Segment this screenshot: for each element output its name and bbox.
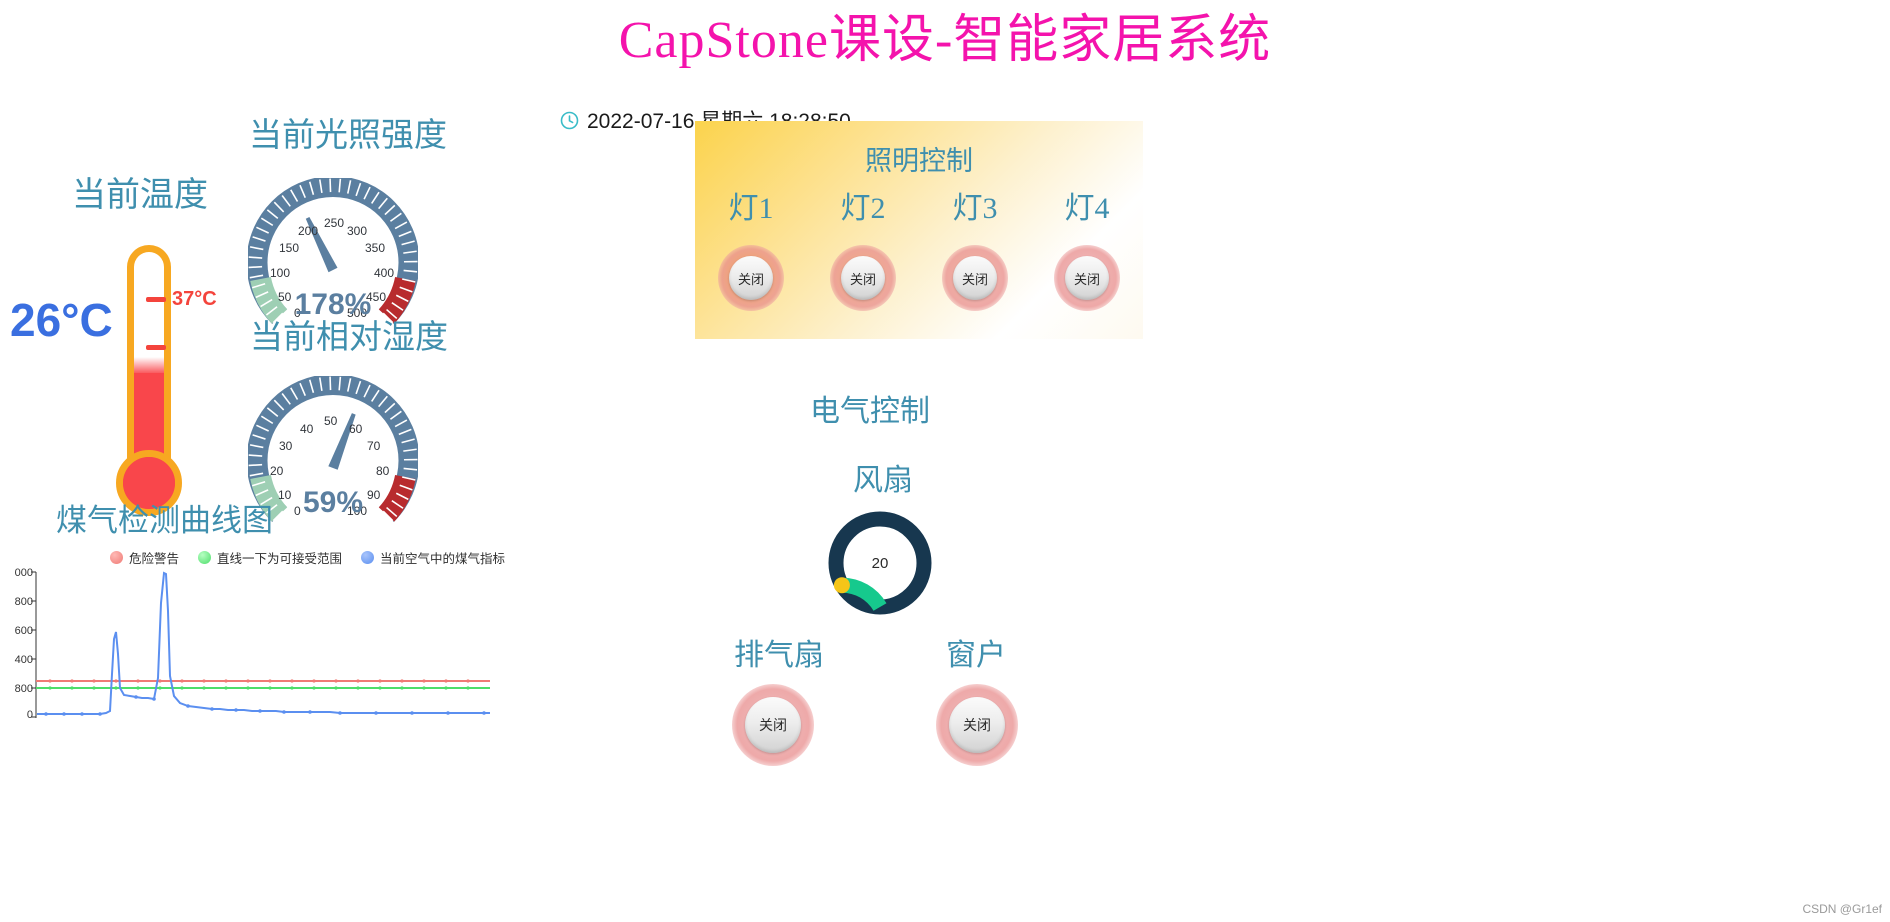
light-tick-150: 150 <box>279 241 299 255</box>
fan-title: 风扇 <box>853 455 913 499</box>
light-tick-250: 250 <box>324 216 344 230</box>
svg-text:800: 800 <box>15 683 33 695</box>
light-tick-300: 300 <box>347 224 367 238</box>
thermometer-tick-lower <box>146 345 166 350</box>
legend-item-danger[interactable]: 危险警告 <box>110 548 179 567</box>
temperature-max-label: 37°C <box>172 288 217 311</box>
exhaust-fan-state: 关闭 <box>745 697 801 753</box>
light-1-state: 关闭 <box>729 256 773 300</box>
light-title: 当前光照强度 <box>249 108 447 156</box>
light-4-toggle-button[interactable]: 关闭 <box>1054 245 1120 311</box>
svg-text:400: 400 <box>15 654 33 666</box>
humidity-tick-70: 70 <box>367 439 380 453</box>
humidity-tick-50: 50 <box>324 414 337 428</box>
light-4-label: 灯4 <box>1065 183 1110 227</box>
window-state: 关闭 <box>949 697 1005 753</box>
light-cell-4: 灯4 关闭 <box>1031 183 1143 311</box>
watermark: CSDN @Gr1ef <box>1802 902 1882 916</box>
light-1-toggle-button[interactable]: 关闭 <box>718 245 784 311</box>
electric-control-title: 电气控制 <box>810 386 930 430</box>
light-tick-350: 350 <box>365 241 385 255</box>
light-tick-200: 200 <box>298 224 318 238</box>
svg-text:800: 800 <box>15 596 33 608</box>
legend-label-danger: 危险警告 <box>129 548 179 567</box>
light-cell-1: 灯1 关闭 <box>695 183 807 311</box>
light-3-toggle-button[interactable]: 关闭 <box>942 245 1008 311</box>
humidity-gauge: 10 20 30 40 50 60 70 80 90 100 0 59% <box>248 376 418 546</box>
legend-label-acceptable: 直线一下为可接受范围 <box>217 548 342 567</box>
lighting-panel-title: 照明控制 <box>695 139 1143 178</box>
light-3-label: 灯3 <box>953 183 998 227</box>
gas-chart-svg: 000 800 600 400 800 0 <box>0 566 495 726</box>
window-title: 窗户 <box>946 630 1006 674</box>
legend-item-current[interactable]: 当前空气中的煤气指标 <box>361 548 505 567</box>
lighting-buttons-grid: 灯1 关闭 灯2 关闭 灯3 关闭 灯4 关闭 <box>695 183 1143 311</box>
page-title: CapStone课设-智能家居系统 <box>0 12 1890 69</box>
legend-label-current: 当前空气中的煤气指标 <box>380 548 505 567</box>
legend-item-acceptable[interactable]: 直线一下为可接受范围 <box>198 548 342 567</box>
thermometer-tick-upper <box>146 297 166 302</box>
light-3-state: 关闭 <box>953 256 997 300</box>
light-tick-400: 400 <box>374 266 394 280</box>
legend-dot-danger <box>110 551 123 564</box>
exhaust-fan-title: 排气扇 <box>734 630 824 674</box>
temperature-title: 当前温度 <box>72 167 208 216</box>
humidity-tick-20: 20 <box>270 464 283 478</box>
light-2-state: 关闭 <box>841 256 885 300</box>
temperature-value: 26°C <box>10 293 113 347</box>
svg-text:0: 0 <box>27 709 33 721</box>
lighting-control-panel: 照明控制 灯1 关闭 灯2 关闭 灯3 关闭 灯4 <box>695 121 1143 339</box>
fan-speed-knob[interactable]: 20 <box>822 505 938 621</box>
humidity-title: 当前相对湿度 <box>250 310 448 358</box>
window-toggle-button[interactable]: 关闭 <box>936 684 1018 766</box>
svg-text:600: 600 <box>15 625 33 637</box>
legend-dot-acceptable <box>198 551 211 564</box>
humidity-value: 59% <box>248 486 418 520</box>
gas-chart[interactable]: 000 800 600 400 800 0 <box>0 566 495 726</box>
dashboard-root: CapStone课设-智能家居系统 2022-07-16 星期六 18:28:5… <box>0 0 1890 922</box>
humidity-tick-80: 80 <box>376 464 389 478</box>
legend-dot-current <box>361 551 374 564</box>
light-cell-3: 灯3 关闭 <box>919 183 1031 311</box>
light-cell-2: 灯2 关闭 <box>807 183 919 311</box>
gas-chart-legend: 危险警告 直线一下为可接受范围 当前空气中的煤气指标 <box>110 548 515 567</box>
light-tick-100: 100 <box>270 266 290 280</box>
fan-speed-value: 20 <box>822 555 938 572</box>
svg-text:000: 000 <box>15 567 33 579</box>
light-4-state: 关闭 <box>1065 256 1109 300</box>
gas-chart-title: 煤气检测曲线图 <box>56 495 273 540</box>
light-2-toggle-button[interactable]: 关闭 <box>830 245 896 311</box>
light-1-label: 灯1 <box>729 183 774 227</box>
light-2-label: 灯2 <box>841 183 886 227</box>
exhaust-fan-toggle-button[interactable]: 关闭 <box>732 684 814 766</box>
clock-icon <box>560 111 579 130</box>
humidity-tick-60: 60 <box>349 422 362 436</box>
humidity-tick-30: 30 <box>279 439 292 453</box>
humidity-tick-40: 40 <box>300 422 313 436</box>
